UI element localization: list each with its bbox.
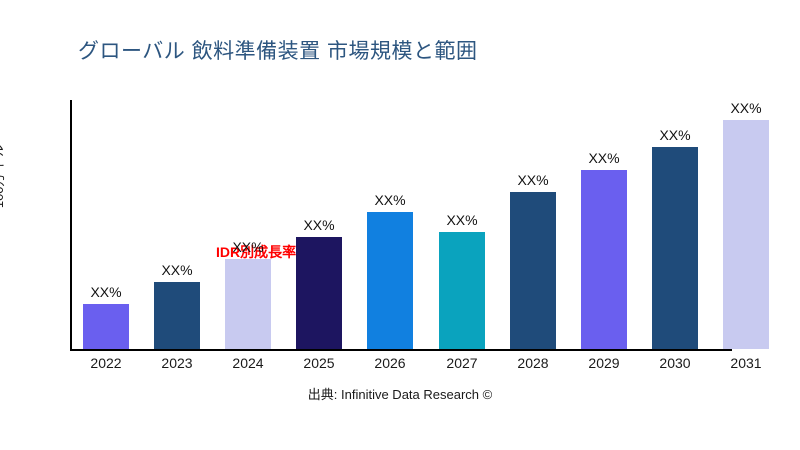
bar-2030[interactable] [652, 147, 698, 349]
x-tick-2029: 2029 [567, 355, 641, 371]
x-tick-2022: 2022 [69, 355, 143, 371]
bar-value-label: XX% [282, 217, 356, 233]
x-tick-2027: 2027 [425, 355, 499, 371]
bar-value-label: XX% [353, 192, 427, 208]
bar-group: XX% [652, 147, 698, 349]
bar-2025[interactable] [296, 237, 342, 349]
x-tick-2026: 2026 [353, 355, 427, 371]
x-tick-2024: 2024 [211, 355, 285, 371]
bar-2022[interactable] [83, 304, 129, 349]
bar-value-label: XX% [638, 127, 712, 143]
source-note: 出典: Infinitive Data Research © [0, 384, 800, 403]
bar-2023[interactable] [154, 282, 200, 349]
x-tick-2028: 2028 [496, 355, 570, 371]
page-title: グローバル 飲料準備装置 市場規模と範囲 [78, 38, 477, 66]
bar-group: XX% [723, 120, 769, 349]
bar-group: XX% [581, 170, 627, 349]
bar-group: XX% [154, 282, 200, 349]
bar-value-label: XX% [211, 239, 285, 255]
bar-2027[interactable] [439, 232, 485, 349]
bar-2029[interactable] [581, 170, 627, 349]
x-axis-line [70, 349, 732, 351]
bar-2028[interactable] [510, 192, 556, 349]
bar-2031[interactable] [723, 120, 769, 349]
x-tick-2030: 2030 [638, 355, 712, 371]
bar-value-label: XX% [69, 284, 143, 300]
bar-group: XX% [225, 259, 271, 349]
x-tick-2031: 2031 [709, 355, 783, 371]
plot-area: IDR別成長率XX% XX%XX%XX%XX%XX%XX%XX%XX%XX%XX… [70, 100, 782, 351]
chart-figure: グローバル 飲料準備装置 市場規模と範囲 100万 ドル IDR別成長率XX% … [0, 0, 800, 450]
x-axis-tick-labels: 2022202320242025202620272028202920302031 [70, 355, 782, 377]
bar-group: XX% [367, 212, 413, 349]
bar-value-label: XX% [140, 262, 214, 278]
bar-value-label: XX% [496, 172, 570, 188]
bar-2026[interactable] [367, 212, 413, 349]
bar-value-label: XX% [709, 100, 783, 116]
x-tick-2023: 2023 [140, 355, 214, 371]
bar-group: XX% [439, 232, 485, 349]
bar-group: XX% [510, 192, 556, 349]
y-axis-line [70, 100, 72, 351]
y-axis-label: 100万 ドル [0, 116, 7, 236]
bar-value-label: XX% [425, 212, 499, 228]
bar-group: XX% [296, 237, 342, 349]
bar-2024[interactable] [225, 259, 271, 349]
bar-group: XX% [83, 304, 129, 349]
bar-value-label: XX% [567, 150, 641, 166]
x-tick-2025: 2025 [282, 355, 356, 371]
